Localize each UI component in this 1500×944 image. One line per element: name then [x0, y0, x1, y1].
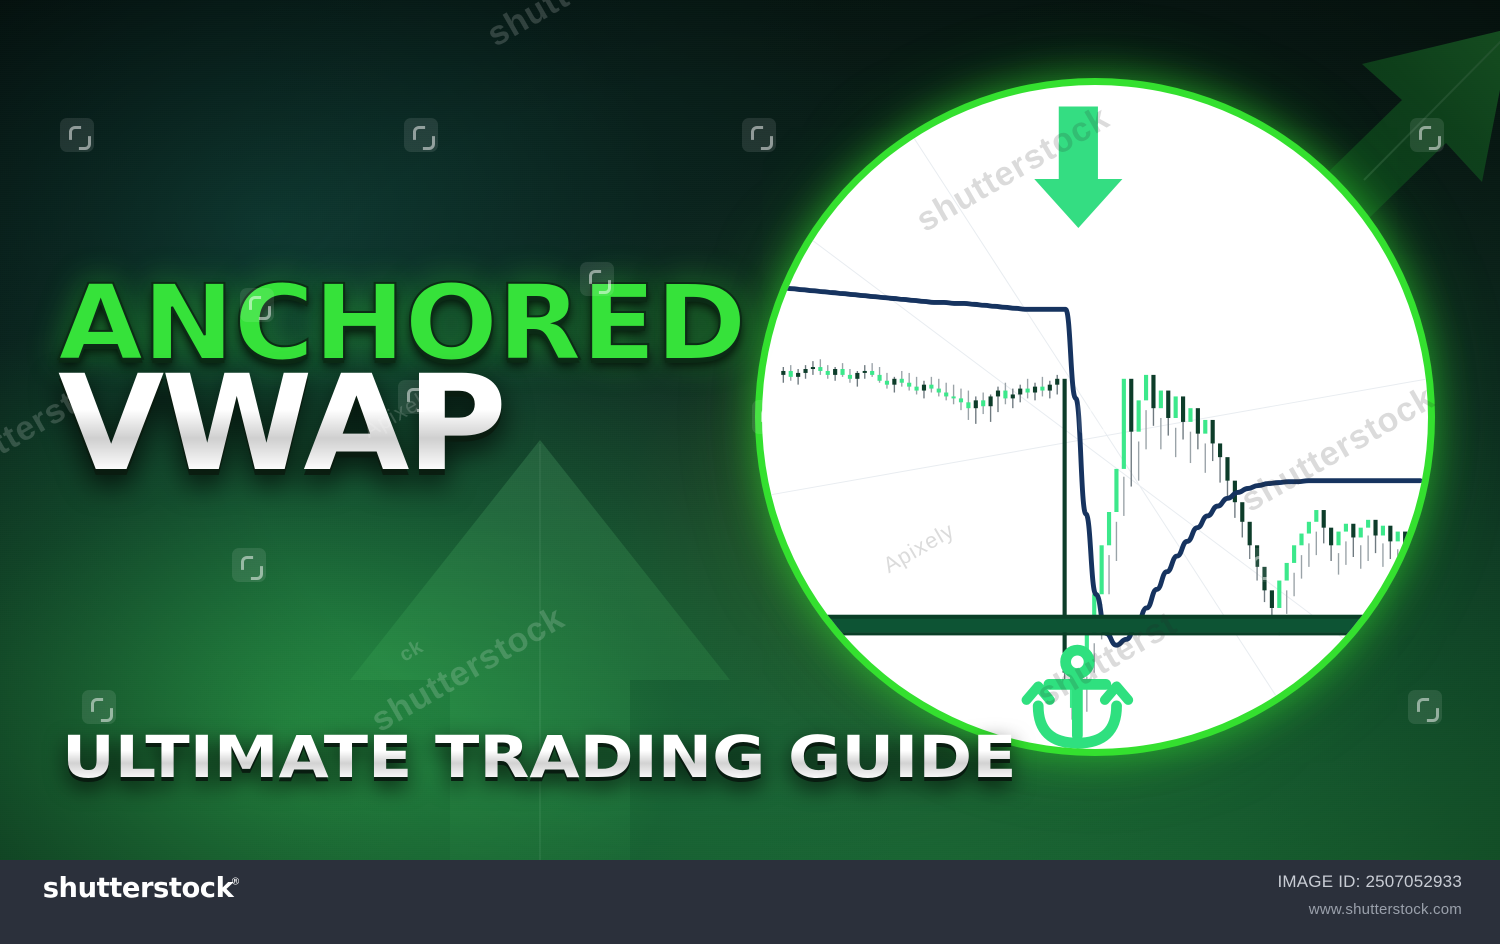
- candle-body: [1196, 408, 1200, 433]
- candle-body: [989, 396, 993, 406]
- candle-body: [1011, 394, 1015, 398]
- candle-body: [1107, 512, 1111, 545]
- watermark-tile-icon: [232, 548, 266, 582]
- candle-body: [1159, 391, 1163, 409]
- candle-body: [1359, 528, 1363, 538]
- candle-body: [781, 371, 785, 375]
- candle-body: [1255, 545, 1259, 567]
- candle-body: [1299, 534, 1303, 546]
- candle-body: [1329, 528, 1333, 546]
- chart-circle-frame: [755, 78, 1435, 756]
- candle-body: [1336, 532, 1340, 546]
- poster-artwork: ANCHORED VWAP ULTIMATE TRADING GUIDE: [0, 0, 1500, 860]
- anchor-band: [762, 615, 1428, 636]
- candle-body: [1048, 385, 1052, 391]
- candle-body: [855, 373, 859, 379]
- candle-body: [1285, 563, 1289, 581]
- candle-body: [996, 391, 1000, 397]
- candle-body: [915, 387, 919, 391]
- candle-body: [1151, 375, 1155, 408]
- candle-body: [1403, 532, 1407, 548]
- candle-body: [981, 400, 985, 406]
- candle-body: [1351, 524, 1355, 538]
- candle-body: [1277, 581, 1281, 608]
- candle-body: [826, 371, 830, 375]
- candle-body: [848, 375, 852, 379]
- watermark-tile-icon: [60, 118, 94, 152]
- watermark-tile-icon: [404, 118, 438, 152]
- candle-body: [870, 371, 874, 375]
- candlestick-chart: [762, 85, 1428, 749]
- candle-body: [1388, 526, 1392, 542]
- candle-body: [818, 367, 822, 371]
- candle-body: [907, 383, 911, 387]
- candle-body: [1396, 532, 1400, 542]
- candle-body: [1262, 567, 1266, 591]
- candle-body: [877, 375, 881, 381]
- candle-body: [1248, 522, 1252, 546]
- watermark-text: shutterst: [481, 0, 634, 55]
- page-title-line2: VWAP: [58, 364, 733, 484]
- shutterstock-logo-text: shutterstock: [43, 874, 235, 904]
- candle-body: [892, 379, 896, 385]
- candle-body: [803, 369, 807, 373]
- watermark-text: shutterstock: [365, 599, 572, 741]
- candle-body: [840, 369, 844, 375]
- candle-body: [1129, 379, 1133, 432]
- candle-body: [922, 385, 926, 391]
- candle-body: [1114, 469, 1118, 512]
- candle-body: [1410, 547, 1414, 563]
- candle-body: [1381, 526, 1385, 536]
- candle-body: [1240, 502, 1244, 522]
- candle-body: [1122, 379, 1126, 469]
- candle-body: [900, 379, 904, 383]
- candle-body: [885, 381, 889, 385]
- candle-body: [1166, 391, 1170, 418]
- candle-body: [959, 398, 963, 402]
- candle-body: [1366, 520, 1370, 528]
- candle-body: [1055, 379, 1059, 385]
- candle-body: [811, 367, 815, 369]
- candle-body: [1211, 420, 1215, 444]
- candle-body: [974, 400, 978, 408]
- candle-body: [1026, 389, 1030, 393]
- candle-body: [1188, 408, 1192, 422]
- shutterstock-logo: shutterstock ®: [42, 874, 264, 904]
- candle-body: [1344, 524, 1348, 532]
- candle-body: [1100, 545, 1104, 594]
- candle-body: [1225, 457, 1229, 481]
- candle-body: [1144, 375, 1148, 400]
- candle-body: [1322, 510, 1326, 528]
- candle-body: [929, 385, 933, 389]
- candle-body: [796, 373, 800, 377]
- watermark-text: ck: [396, 636, 428, 668]
- candle-body: [1137, 400, 1141, 431]
- candle-body: [1033, 387, 1037, 393]
- candle-body: [1174, 396, 1178, 418]
- title-block: ANCHORED VWAP: [58, 276, 707, 484]
- poster-screenshot: ANCHORED VWAP ULTIMATE TRADING GUIDE: [0, 0, 1500, 944]
- candle-body: [863, 371, 867, 373]
- candles-layer: [781, 359, 1414, 731]
- image-id-label: IMAGE ID: 2507052933: [1277, 872, 1462, 892]
- candle-body: [1314, 510, 1318, 522]
- registered-mark-icon: ®: [231, 877, 241, 888]
- page-subtitle: ULTIMATE TRADING GUIDE: [62, 726, 1017, 788]
- candle-body: [1270, 590, 1274, 608]
- candle-body: [1018, 389, 1022, 395]
- candle-body: [944, 393, 948, 397]
- candle-body: [937, 389, 941, 393]
- vwap-line: [772, 287, 1420, 645]
- site-url-label[interactable]: www.shutterstock.com: [1309, 901, 1462, 918]
- candle-body: [1040, 387, 1044, 391]
- candle-body: [1181, 396, 1185, 421]
- anchor-icon: [1026, 650, 1128, 743]
- candle-body: [1003, 391, 1007, 399]
- candle-body: [1307, 522, 1311, 534]
- candle-body: [833, 369, 837, 375]
- down-arrow-icon: [1034, 107, 1122, 228]
- candle-body: [1203, 420, 1207, 434]
- candle-body: [1373, 520, 1377, 536]
- candle-body: [1218, 443, 1222, 457]
- candle-body: [966, 402, 970, 408]
- candle-body: [1292, 545, 1296, 563]
- candle-body: [789, 371, 793, 377]
- watermark-tile-icon: [82, 690, 116, 724]
- candle-body: [952, 396, 956, 398]
